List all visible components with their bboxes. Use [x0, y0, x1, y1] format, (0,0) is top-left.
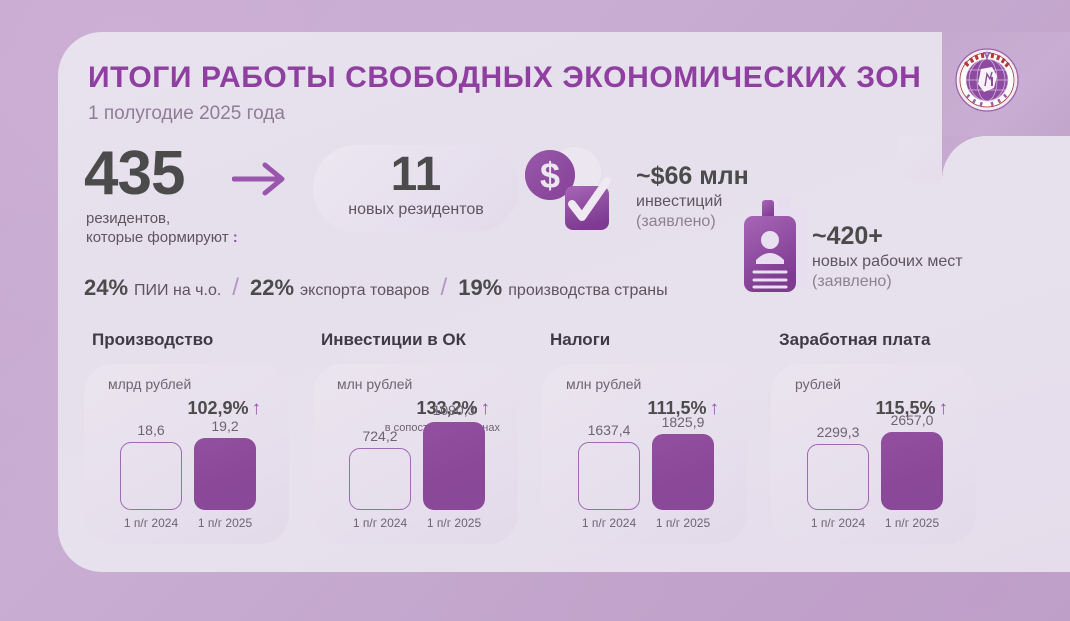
share-percent: 22% [250, 275, 294, 301]
stat-card-title: Производство [92, 330, 306, 350]
bar-current-year [652, 434, 714, 510]
share-label: ПИИ на ч.о. [134, 282, 221, 300]
shares-row: 24%ПИИ на ч.о./22%экспорта товаров/19%пр… [84, 274, 668, 302]
investments-label: инвестиций [636, 192, 749, 212]
page-subtitle: 1 полугодие 2025 года [88, 103, 285, 125]
bar-category-label: 1 п/г 2024 [343, 516, 417, 530]
shares-separator: / [232, 274, 239, 302]
investments-amount: ~$66 млн [636, 162, 749, 190]
bar-current-year [881, 432, 943, 510]
bar-value-label: 2299,3 [807, 424, 869, 440]
bar-value-label: 1637,4 [578, 422, 640, 438]
new-residents-count: 11 [313, 151, 519, 199]
bar-previous-year [349, 448, 411, 510]
bar-value-label: 1090,3 [423, 402, 485, 418]
bar-chart: 18,61 п/г 202419,21 п/г 2025 [84, 414, 289, 534]
residents-count: 435 [84, 143, 184, 205]
investments-note: (заявлено) [636, 212, 749, 232]
bar-group: 18,61 п/г 2024 [120, 442, 182, 510]
bar-category-label: 1 п/г 2025 [188, 516, 262, 530]
bar-category-label: 1 п/г 2025 [646, 516, 720, 530]
shares-separator: / [441, 274, 448, 302]
bar-group: 1090,31 п/г 2025 [423, 422, 485, 510]
bar-group: 2657,01 п/г 2025 [881, 432, 943, 510]
bar-group: 1637,41 п/г 2024 [578, 442, 640, 510]
bar-category-label: 1 п/г 2025 [417, 516, 491, 530]
bar-value-label: 1825,9 [652, 414, 714, 430]
dollar-coin-check-icon: $ [520, 143, 630, 235]
stat-card: Производствомлрд рублей102,9%↑18,61 п/г … [84, 330, 306, 545]
bar-value-label: 724,2 [349, 428, 411, 444]
bar-group: 1825,91 п/г 2025 [652, 434, 714, 510]
new-residents-label: новых резидентов [313, 201, 519, 219]
residents-caption-colon: : [233, 229, 238, 246]
arrow-right-icon [232, 160, 288, 198]
stat-card-unit: млн рублей [337, 376, 412, 392]
share-percent: 24% [84, 275, 128, 301]
residents-caption-line1: резидентов, [86, 210, 170, 227]
bar-category-label: 1 п/г 2024 [114, 516, 188, 530]
stat-card-body: млрд рублей102,9%↑18,61 п/г 202419,21 п/… [84, 364, 289, 544]
stat-cards-row: Производствомлрд рублей102,9%↑18,61 п/г … [84, 330, 984, 545]
share-label: производства страны [508, 282, 667, 300]
share-label: экспорта товаров [300, 282, 430, 300]
investments-text: ~$66 млн инвестиций (заявлено) [636, 162, 749, 232]
bar-previous-year [120, 442, 182, 510]
bar-current-year [423, 422, 485, 510]
bar-category-label: 1 п/г 2024 [572, 516, 646, 530]
bar-group: 2299,31 п/г 2024 [807, 444, 869, 510]
stat-card-unit: рублей [795, 376, 841, 392]
bar-category-label: 1 п/г 2025 [875, 516, 949, 530]
stat-card-title: Заработная плата [779, 330, 993, 350]
svg-text:$: $ [540, 155, 560, 196]
bar-chart: 2299,31 п/г 20242657,01 п/г 2025 [771, 414, 976, 534]
stat-card-title: Налоги [550, 330, 764, 350]
jobs-text: ~420+ новых рабочих мест (заявлено) [812, 222, 963, 292]
residents-caption-line2: которые формируют [86, 229, 229, 246]
stat-card-body: млн рублей133,2%↑в сопоставимых ценах724… [313, 364, 518, 544]
id-badge-icon [736, 194, 820, 298]
stat-card-body: млн рублей111,5%↑1637,41 п/г 20241825,91… [542, 364, 747, 544]
bar-group: 724,21 п/г 2024 [349, 448, 411, 510]
belstat-emblem-icon [951, 36, 1023, 116]
bar-value-label: 18,6 [120, 422, 182, 438]
bar-current-year [194, 438, 256, 510]
bar-chart: 1637,41 п/г 20241825,91 п/г 2025 [542, 414, 747, 534]
stat-card-body: рублей115,5%↑2299,31 п/г 20242657,01 п/г… [771, 364, 976, 544]
stat-card-unit: млрд рублей [108, 376, 191, 392]
jobs-amount: ~420+ [812, 222, 963, 250]
bar-value-label: 2657,0 [881, 412, 943, 428]
stat-card: Заработная платарублей115,5%↑2299,31 п/г… [771, 330, 993, 545]
jobs-label: новых рабочих мест [812, 252, 963, 272]
stat-card: Инвестиции в ОКмлн рублей133,2%↑в сопост… [313, 330, 535, 545]
stat-card-unit: млн рублей [566, 376, 641, 392]
residents-caption: резидентов, которые формируют : [86, 209, 238, 247]
stat-card: Налогимлн рублей111,5%↑1637,41 п/г 20241… [542, 330, 764, 545]
stat-card-title: Инвестиции в ОК [321, 330, 535, 350]
bar-value-label: 19,2 [194, 418, 256, 434]
jobs-note: (заявлено) [812, 272, 963, 292]
page-title: ИТОГИ РАБОТЫ СВОБОДНЫХ ЭКОНОМИЧЕСКИХ ЗОН [88, 61, 921, 95]
bar-category-label: 1 п/г 2024 [801, 516, 875, 530]
bar-previous-year [578, 442, 640, 510]
share-percent: 19% [458, 275, 502, 301]
bar-group: 19,21 п/г 2025 [194, 438, 256, 510]
new-residents-pill: 11 новых резидентов [313, 145, 519, 232]
bar-chart: 724,21 п/г 20241090,31 п/г 2025 [313, 414, 518, 534]
bar-previous-year [807, 444, 869, 510]
